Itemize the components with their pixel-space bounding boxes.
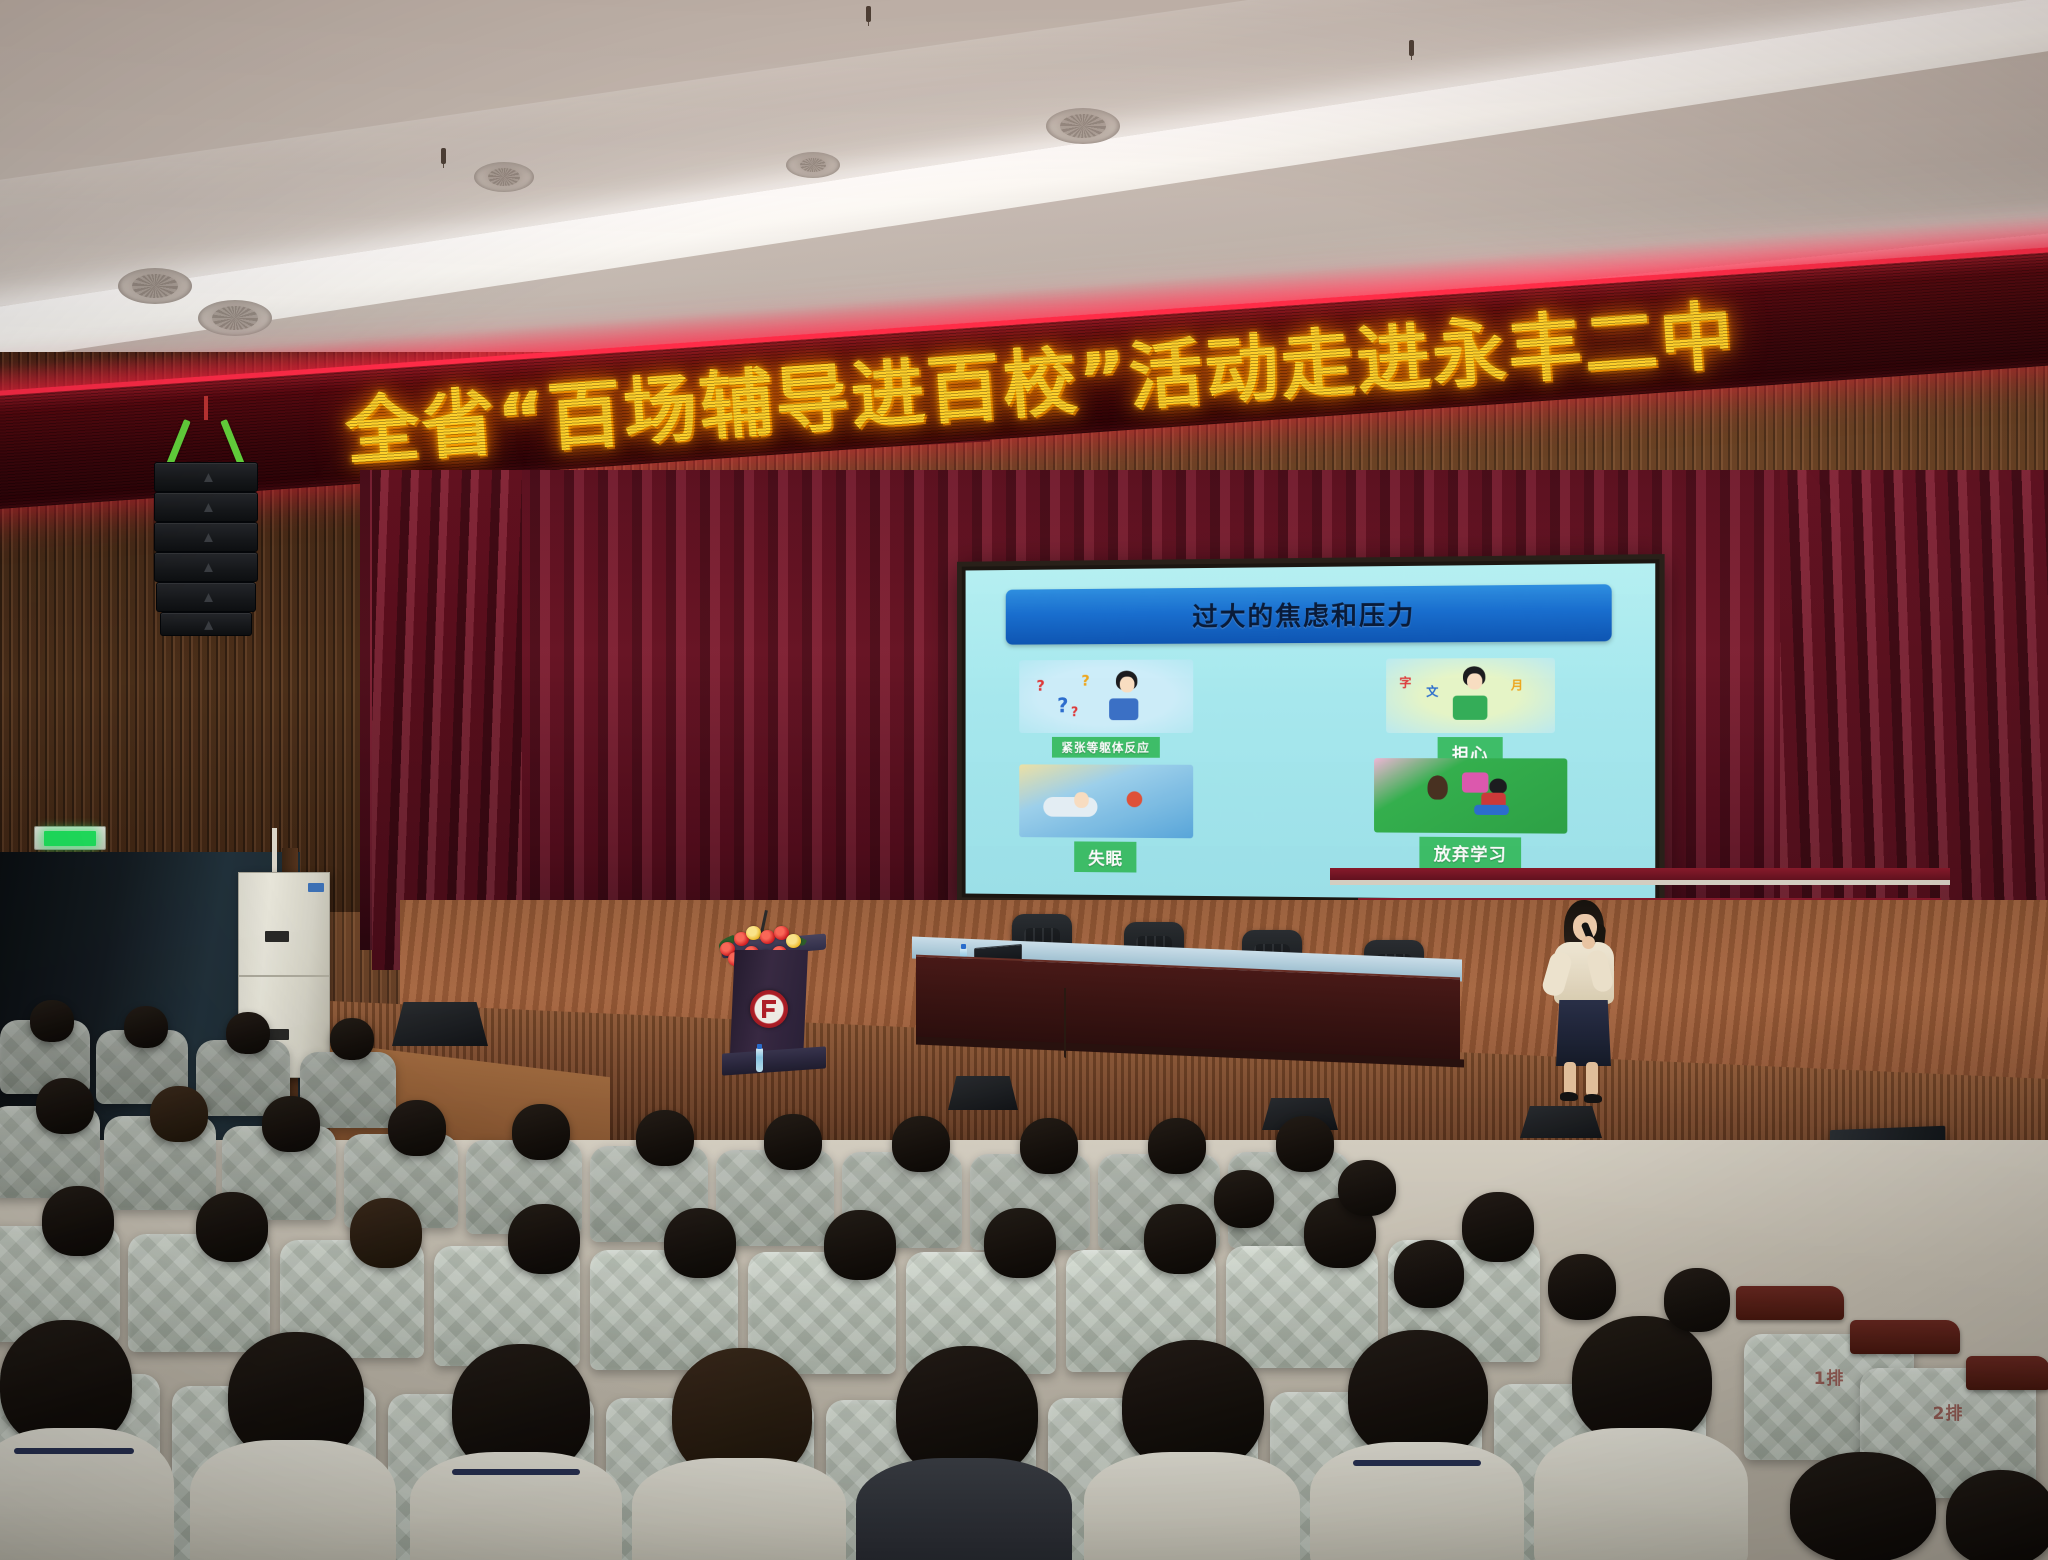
seat-armrest [1850, 1320, 1960, 1354]
flower-icon [786, 934, 801, 948]
seat-row-marking: 1排 [1814, 1364, 1845, 1389]
figure-hair [1428, 775, 1448, 799]
audience-shoulders [1310, 1442, 1524, 1560]
slide-title: 过大的焦虑和压力 [1192, 595, 1415, 634]
stage-curtain-left [372, 470, 522, 970]
question-mark-icon: ? [1081, 672, 1089, 690]
figure-body [1109, 698, 1138, 720]
flower-icon [760, 930, 775, 944]
audience-head [1462, 1192, 1534, 1262]
sprinkler-head-icon [441, 148, 446, 164]
audience-head [1148, 1118, 1206, 1174]
line-array-speaker-cluster [154, 418, 264, 648]
scribble-icon: 字 [1399, 674, 1411, 691]
slide-caption-3: 失眠 [1075, 841, 1137, 872]
audience-head [36, 1078, 94, 1134]
air-vent-icon [474, 162, 534, 192]
speaker-module [154, 522, 258, 552]
audience-head [1664, 1268, 1730, 1332]
audience-head [1394, 1240, 1464, 1308]
seat-armrest [1966, 1356, 2048, 1390]
question-mark-icon: ? [1071, 706, 1078, 721]
audience-head [1946, 1470, 2048, 1560]
slide-item-1: ? ? ? ? 紧张等躯体反应 [1005, 660, 1207, 758]
speaker-module [160, 612, 252, 636]
audience-shoulders [1534, 1428, 1748, 1560]
presenter-hand [1582, 936, 1595, 949]
projection-screen-surface: 过大的焦虑和压力 ? ? ? ? 紧张等躯体反应 字 文 月 [966, 563, 1656, 900]
audience-head [1276, 1116, 1334, 1172]
air-vent-icon [786, 152, 840, 178]
poster-icon [1462, 772, 1488, 792]
lectern [722, 908, 826, 1068]
audience-head [350, 1198, 422, 1268]
cabinet-lock-icon [265, 931, 289, 942]
sprinkler-head-icon [866, 6, 871, 22]
air-vent-icon [1046, 108, 1120, 144]
clipart-insomnia-icon [1019, 764, 1192, 838]
cabinet-label-icon [308, 883, 324, 892]
audience-shoulders [1084, 1452, 1300, 1560]
presenter [1540, 900, 1630, 1100]
exit-sign-icon [44, 831, 96, 846]
clipart-anxious-student-icon: ? ? ? ? [1019, 660, 1192, 733]
audience-head [1144, 1204, 1216, 1274]
presenter-leg [1586, 1062, 1598, 1096]
slide-caption-1: 紧张等躯体反应 [1052, 737, 1160, 758]
presenter-shoe [1560, 1092, 1578, 1101]
audience-head [30, 1000, 74, 1042]
figure-face [1119, 676, 1134, 692]
audience-head [1338, 1160, 1396, 1216]
figure-face [1074, 792, 1089, 808]
slide-item-3: 失眠 [1005, 764, 1207, 873]
figure-hair [1490, 778, 1507, 793]
question-mark-icon: ? [1036, 677, 1044, 695]
audience-head [764, 1114, 822, 1170]
stage-monitor-wedge [1520, 1106, 1602, 1138]
scribble-icon: 文 [1426, 683, 1438, 700]
audience-head [636, 1110, 694, 1166]
audience-shoulders [632, 1458, 846, 1560]
head-table [912, 930, 1462, 1080]
presenter-skirt [1556, 1000, 1611, 1066]
step-riser [1330, 868, 1950, 885]
audience-head [984, 1208, 1056, 1278]
desk-icon [1474, 805, 1509, 815]
school-emblem-icon [750, 990, 788, 1028]
conduit-pipe [272, 828, 277, 876]
rigging-hook-icon [204, 396, 208, 420]
projection-screen: 过大的焦虑和压力 ? ? ? ? 紧张等躯体反应 字 文 月 [957, 554, 1665, 910]
speaker-module [154, 492, 258, 522]
air-vent-icon [198, 300, 272, 336]
presenter-shoe [1584, 1094, 1602, 1103]
air-vent-icon [118, 268, 192, 304]
audience-head [892, 1116, 950, 1172]
clipart-giving-up-study-icon [1374, 759, 1568, 835]
audience-shoulders [856, 1458, 1072, 1560]
slide-title-bar: 过大的焦虑和压力 [1005, 584, 1612, 645]
seat-row-marking: 2排 [1933, 1399, 1964, 1424]
cabinet-seam [239, 975, 329, 977]
audience-head [1020, 1118, 1078, 1174]
audience-head [124, 1006, 168, 1048]
audience-head [664, 1208, 736, 1278]
water-bottle-icon [756, 1048, 763, 1072]
stage-monitor-wedge [948, 1076, 1018, 1110]
auditorium-photo: 全省“百场辅导进百校”活动走进永丰二中 过大的焦虑和压力 [0, 0, 2048, 1560]
audience-head [1572, 1316, 1712, 1446]
audience-head [508, 1204, 580, 1274]
cable [1064, 988, 1066, 1058]
pillow-icon [1126, 791, 1142, 807]
slide-item-4: 放弃学习 [1358, 758, 1583, 869]
audience-shoulders [190, 1440, 396, 1560]
speaker-module [154, 462, 258, 492]
figure-body [1453, 696, 1488, 720]
audience-head [1348, 1330, 1488, 1460]
audience-head [1214, 1170, 1274, 1228]
audience-head [330, 1018, 374, 1060]
seat-armrest [1736, 1286, 1844, 1320]
audience-head [824, 1210, 896, 1280]
audience-shoulders [410, 1452, 622, 1560]
clipart-worried-student-icon: 字 文 月 [1386, 658, 1555, 733]
audience-shoulders [0, 1428, 174, 1560]
slide-caption-4: 放弃学习 [1419, 837, 1521, 869]
sprinkler-head-icon [1409, 40, 1414, 56]
audience-head [1790, 1452, 1936, 1560]
audience-head [512, 1104, 570, 1160]
speaker-module [154, 552, 258, 582]
scribble-icon: 月 [1511, 676, 1523, 693]
speaker-module [156, 582, 256, 612]
audience-head [150, 1086, 208, 1142]
audience-head [226, 1012, 270, 1054]
presenter-leg [1564, 1062, 1576, 1096]
audience-head [42, 1186, 114, 1256]
audience-head [1548, 1254, 1616, 1320]
question-mark-icon: ? [1057, 694, 1068, 718]
bed-icon [1043, 796, 1097, 816]
slide-item-2: 字 文 月 担心 [1372, 658, 1569, 769]
stage-monitor-wedge [392, 1002, 488, 1046]
audience-head [262, 1096, 320, 1152]
audience-head [196, 1192, 268, 1262]
flower-icon [746, 926, 761, 940]
audience-head [388, 1100, 446, 1156]
exit-sign [34, 826, 106, 850]
figure-face [1467, 674, 1482, 690]
